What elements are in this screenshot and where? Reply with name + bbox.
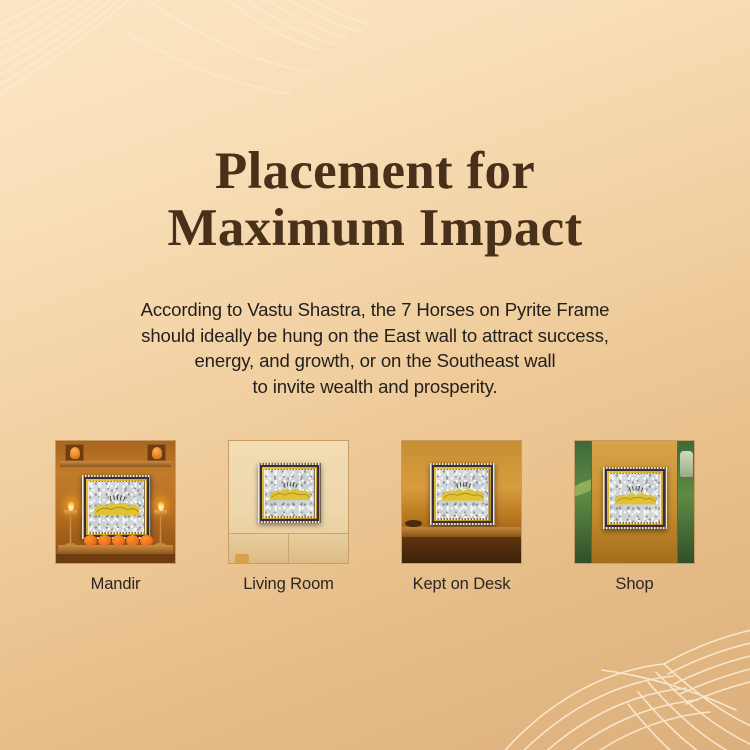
framed-artwork-mandir — [82, 475, 151, 539]
placement-caption-kept-on-desk: Kept on Desk — [401, 575, 522, 594]
seven-horses-icon — [439, 482, 486, 502]
mandir-lamp-right — [154, 502, 167, 546]
artwork-bead-border — [430, 463, 495, 525]
artwork-pyrite-canvas — [89, 482, 144, 532]
seven-horses-icon — [612, 486, 658, 505]
artwork-inner-bead — [88, 481, 146, 534]
description-line-1: According to Vastu Shastra, the 7 Horses… — [0, 297, 750, 323]
desk-surface — [402, 527, 521, 537]
placement-thumbnail-living-room[interactable] — [228, 440, 349, 564]
placement-card-living-room[interactable]: Living Room — [228, 440, 349, 594]
poster-canvas: Placement for Maximum Impact According t… — [0, 0, 750, 750]
placement-thumbnail-mandir[interactable] — [55, 440, 176, 564]
mandir-offering-fruit — [112, 535, 125, 546]
artwork-frame-band — [260, 465, 319, 521]
mandir-niche-left — [65, 444, 84, 461]
description-line-2: should ideally be hung on the East wall … — [0, 323, 750, 349]
shop-greenery-left — [575, 441, 592, 563]
desk-front-panel — [402, 537, 521, 563]
scene-desk — [402, 441, 521, 563]
artwork-gold-mat — [262, 467, 317, 519]
description-paragraph: According to Vastu Shastra, the 7 Horses… — [0, 297, 750, 399]
desk-object — [405, 520, 422, 527]
artwork-inner-bead — [436, 469, 490, 520]
artwork-pyrite-canvas — [437, 470, 488, 518]
seven-horses-icon — [91, 495, 142, 516]
artwork-pyrite-canvas — [610, 474, 660, 522]
artwork-gold-mat — [86, 479, 147, 535]
placement-thumbnail-shop[interactable] — [574, 440, 695, 564]
lamp-flame — [158, 500, 164, 511]
description-line-3: energy, and growth, or on the Southeast … — [0, 348, 750, 374]
lamp-stem — [69, 512, 72, 546]
lamp-stem — [159, 512, 162, 546]
artwork-inner-bead — [609, 473, 662, 524]
placement-card-mandir[interactable]: Mandir — [55, 440, 176, 594]
artwork-bead-border — [603, 467, 667, 529]
lamp-flame — [68, 500, 74, 511]
placement-caption-living-room: Living Room — [228, 575, 349, 594]
mandir-idol-right — [152, 447, 162, 459]
mandir-shelf — [60, 461, 171, 467]
page-title: Placement for Maximum Impact — [0, 143, 750, 257]
description-line-4: to invite wealth and prosperity. — [0, 374, 750, 400]
scene-mandir — [56, 441, 175, 563]
artwork-inner-bead — [264, 469, 316, 518]
mandir-base — [56, 554, 175, 563]
mandir-offering-fruit — [98, 535, 111, 546]
artwork-bead-border — [82, 475, 151, 539]
living-room-sofa — [229, 533, 348, 563]
sofa-cushion-right — [289, 533, 349, 563]
placement-thumbnail-kept-on-desk[interactable] — [401, 440, 522, 564]
placement-caption-shop: Shop — [574, 575, 695, 594]
placement-card-shop[interactable]: Shop — [574, 440, 695, 594]
placement-caption-mandir: Mandir — [55, 575, 176, 594]
placement-gallery: Mandir — [0, 440, 750, 594]
framed-artwork-living-room — [258, 463, 321, 523]
artwork-bead-border — [258, 463, 321, 523]
title-line-2: Maximum Impact — [0, 200, 750, 257]
scene-shop — [575, 441, 694, 563]
mandir-lamp-left — [64, 502, 77, 546]
scene-living-room — [229, 441, 348, 563]
mandir-offering-fruit — [126, 535, 139, 546]
framed-artwork-shop — [603, 467, 667, 529]
seven-horses-icon — [267, 482, 312, 501]
placement-card-kept-on-desk[interactable]: Kept on Desk — [401, 440, 522, 594]
artwork-gold-mat — [434, 467, 491, 521]
mandir-niche-right — [147, 444, 166, 461]
artwork-pyrite-canvas — [265, 470, 314, 516]
framed-artwork-desk — [430, 463, 495, 525]
title-line-1: Placement for — [0, 143, 750, 200]
artwork-gold-mat — [607, 471, 663, 525]
artwork-frame-band — [605, 469, 665, 527]
mandir-offering-fruit — [84, 535, 97, 546]
shop-greenery-right — [677, 441, 694, 563]
mandir-idol-left — [70, 447, 80, 459]
artwork-frame-band — [84, 477, 149, 537]
mandir-offering-fruit — [140, 535, 153, 546]
shop-shelf-item — [680, 451, 693, 477]
sofa-pillow — [235, 554, 249, 563]
artwork-frame-band — [432, 465, 493, 523]
